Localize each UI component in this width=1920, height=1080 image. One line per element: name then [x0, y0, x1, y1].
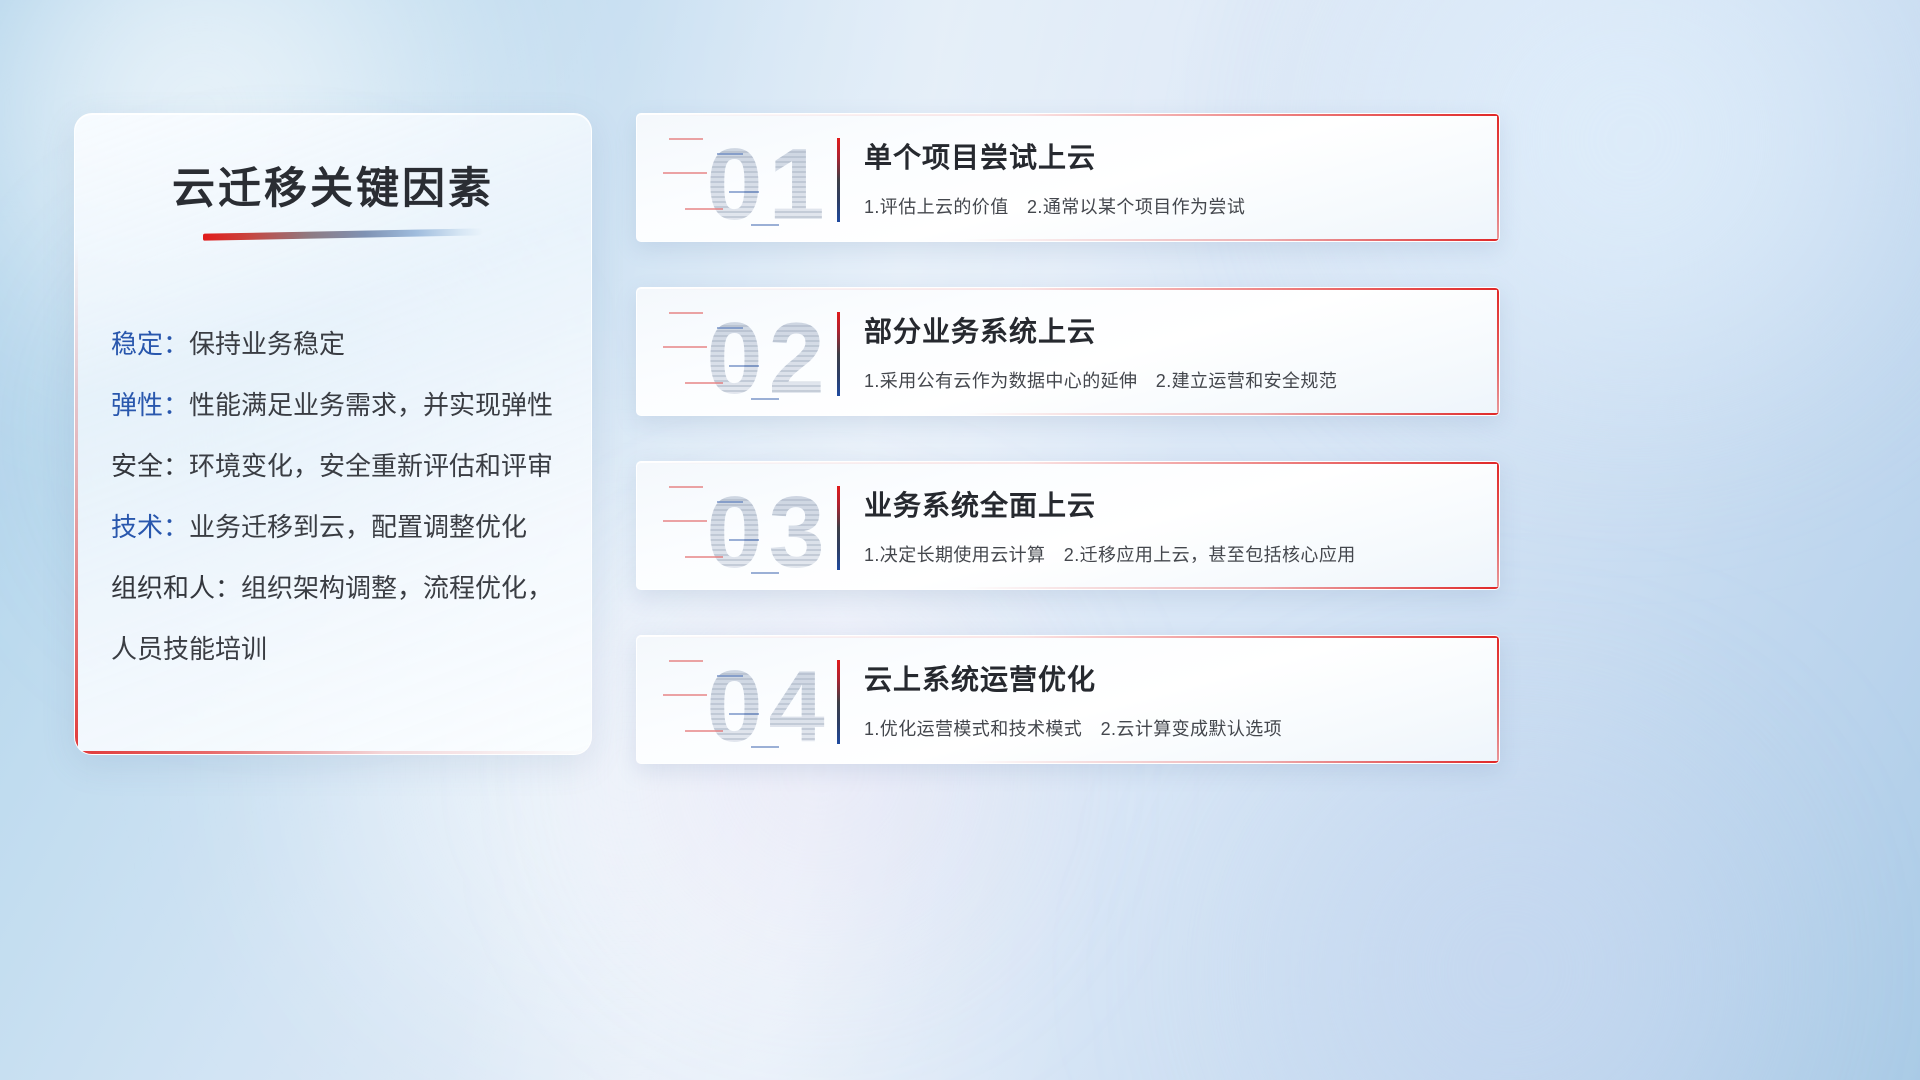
card-number-wrap: 02 [659, 294, 834, 414]
card-accent-bottom [965, 413, 1499, 415]
card-accent-bottom [965, 587, 1499, 589]
card-title: 部分业务系统上云 [864, 310, 1096, 350]
card-number-wrap: 04 [659, 642, 834, 762]
factor-text: 保持业务稳定 [189, 329, 345, 359]
factor-item: 安全：环境变化，安全重新评估和评审 [111, 436, 565, 497]
card-number-tick [751, 572, 779, 574]
card-number-tick [717, 675, 743, 677]
factor-text: 业务迁移到云，配置调整优化 [189, 512, 527, 542]
card-number-wrap: 03 [659, 468, 834, 588]
card-number-tick [685, 556, 723, 558]
factor-text: 组织架构调整，流程优化， [241, 573, 553, 603]
stage-card[interactable]: 04云上系统运营优化1.优化运营模式和技术模式 2.云计算变成默认选项 [636, 635, 1500, 764]
factor-item: 人员技能培训 [111, 619, 565, 680]
stage-card[interactable]: 03业务系统全面上云1.决定长期使用云计算 2.迁移应用上云，甚至包括核心应用 [636, 461, 1500, 590]
card-number-tick [669, 138, 703, 140]
card-number-tick [669, 660, 703, 662]
factor-label: 稳定： [111, 329, 189, 359]
card-accent-bottom [965, 761, 1499, 763]
factor-item: 弹性：性能满足业务需求，并实现弹性 [111, 375, 565, 436]
card-accent-top [637, 114, 1499, 116]
card-number-wrap: 01 [659, 120, 834, 240]
card-number-tick [685, 208, 723, 210]
card-description: 1.优化运营模式和技术模式 2.云计算变成默认选项 [864, 715, 1282, 741]
card-description: 1.决定长期使用云计算 2.迁移应用上云，甚至包括核心应用 [864, 541, 1356, 567]
factor-list: 稳定：保持业务稳定弹性：性能满足业务需求，并实现弹性安全：环境变化，安全重新评估… [111, 314, 565, 680]
factor-label: 技术： [111, 512, 189, 542]
card-number-tick [717, 501, 743, 503]
card-accent-top [637, 462, 1499, 464]
factor-item: 组织和人：组织架构调整，流程优化， [111, 558, 565, 619]
card-number-tick [751, 398, 779, 400]
panel-title: 云迁移关键因素 [75, 154, 591, 216]
card-title: 业务系统全面上云 [864, 484, 1096, 524]
card-divider-bar [837, 312, 840, 396]
card-accent-right [1497, 462, 1499, 589]
factor-label: 组织和人： [111, 573, 241, 603]
factor-text: 环境变化，安全重新评估和评审 [189, 451, 553, 481]
card-number-tick [685, 730, 723, 732]
card-number-tick [663, 520, 707, 522]
card-accent-top [637, 288, 1499, 290]
card-accent-right [1497, 114, 1499, 241]
factor-text: 人员技能培训 [111, 634, 267, 664]
factor-label: 弹性： [111, 390, 189, 420]
card-number-tick [663, 346, 707, 348]
stage-card[interactable]: 02部分业务系统上云1.采用公有云作为数据中心的延伸 2.建立运营和安全规范 [636, 287, 1500, 416]
card-description: 1.评估上云的价值 2.通常以某个项目作为尝试 [864, 193, 1245, 219]
card-number-tick [751, 746, 779, 748]
card-title: 云上系统运营优化 [864, 658, 1096, 698]
card-number-tick [663, 694, 707, 696]
card-accent-top [637, 636, 1499, 638]
card-number-tick [729, 713, 759, 715]
card-divider-bar [837, 138, 840, 222]
card-number-tick [669, 486, 703, 488]
key-factors-panel: 云迁移关键因素 稳定：保持业务稳定弹性：性能满足业务需求，并实现弹性安全：环境变… [74, 113, 592, 755]
card-number-tick [685, 382, 723, 384]
card-number-tick [717, 153, 743, 155]
factor-text: 性能满足业务需求，并实现弹性 [189, 390, 553, 420]
factor-item: 技术：业务迁移到云，配置调整优化 [111, 497, 565, 558]
card-number-tick [663, 172, 707, 174]
card-title: 单个项目尝试上云 [864, 136, 1096, 176]
card-description: 1.采用公有云作为数据中心的延伸 2.建立运营和安全规范 [864, 367, 1337, 393]
card-divider-bar [837, 486, 840, 570]
card-number-tick [717, 327, 743, 329]
card-number-tick [729, 365, 759, 367]
card-accent-bottom [965, 239, 1499, 241]
card-divider-bar [837, 660, 840, 744]
title-underline-accent [203, 228, 483, 240]
card-number-tick [751, 224, 779, 226]
card-accent-right [1497, 636, 1499, 763]
stage-card[interactable]: 01单个项目尝试上云1.评估上云的价值 2.通常以某个项目作为尝试 [636, 113, 1500, 242]
stage-card-list: 01单个项目尝试上云1.评估上云的价值 2.通常以某个项目作为尝试02部分业务系… [636, 113, 1500, 809]
card-number-tick [729, 539, 759, 541]
factor-label: 安全： [111, 451, 189, 481]
factor-item: 稳定：保持业务稳定 [111, 314, 565, 375]
card-number-tick [729, 191, 759, 193]
card-number-tick [669, 312, 703, 314]
card-accent-right [1497, 288, 1499, 415]
